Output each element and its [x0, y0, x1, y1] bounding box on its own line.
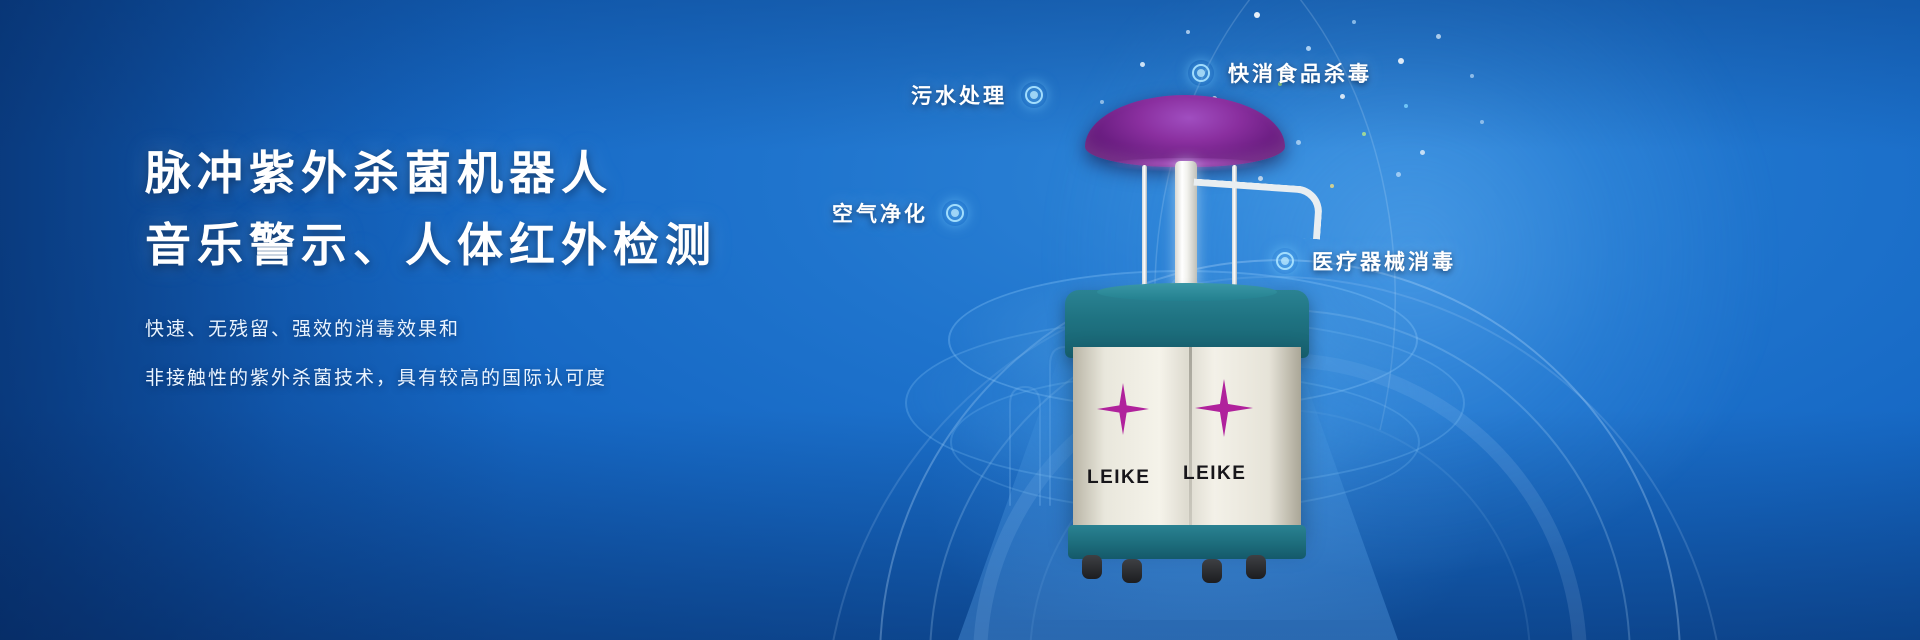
- callout-label: 空气净化: [832, 198, 928, 228]
- uv-lamp-shade: [1085, 95, 1285, 167]
- callout-label: 快消食品杀毒: [1228, 58, 1372, 88]
- callout-fmcg-food: 快消食品杀毒: [1188, 58, 1372, 88]
- ring-marker-icon: [1272, 248, 1298, 274]
- robot-base-foot: [1068, 525, 1306, 559]
- robot-body-panel: [1073, 347, 1301, 537]
- ring-marker-icon: [1021, 82, 1047, 108]
- callout-waste-water: 污水处理: [911, 80, 1047, 110]
- ring-marker-icon: [942, 200, 968, 226]
- brand-label-left: LEIKE: [1087, 467, 1150, 489]
- callout-label: 污水处理: [911, 80, 1007, 110]
- callout-medical-device: 医疗器械消毒: [1272, 246, 1456, 276]
- callout-air-purification: 空气净化: [832, 198, 968, 228]
- uv-disinfection-robot: LEIKE LEIKE: [1010, 85, 1370, 585]
- lamp-support-rod-left: [1142, 165, 1147, 287]
- subheadline-line-2: 非接触性的紫外杀菌技术，具有较高的国际认可度: [145, 369, 845, 388]
- caster-wheel: [1122, 559, 1142, 583]
- headline-line-2: 音乐警示、人体红外检测: [145, 222, 845, 268]
- subheadline-line-1: 快速、无残留、强效的消毒效果和: [145, 320, 845, 339]
- subheadline-block: 快速、无残留、强效的消毒效果和 非接触性的紫外杀菌技术，具有较高的国际认可度: [145, 320, 845, 388]
- caster-wheel: [1082, 555, 1102, 579]
- callout-label: 医疗器械消毒: [1312, 246, 1456, 276]
- ring-marker-icon: [1188, 60, 1214, 86]
- headline-line-1: 脉冲紫外杀菌机器人: [145, 150, 845, 196]
- brand-label-right: LEIKE: [1183, 463, 1246, 485]
- body-edge-seam: [1189, 347, 1192, 537]
- push-handle: [1190, 179, 1323, 240]
- banner-root: LEIKE LEIKE 污水处理 快消食品杀毒 空气净化 医疗器械消毒 脉冲紫外…: [0, 0, 1920, 640]
- caster-wheel: [1202, 559, 1222, 583]
- headline-block: 脉冲紫外杀菌机器人 音乐警示、人体红外检测 快速、无残留、强效的消毒效果和 非接…: [145, 150, 845, 388]
- caster-wheel: [1246, 555, 1266, 579]
